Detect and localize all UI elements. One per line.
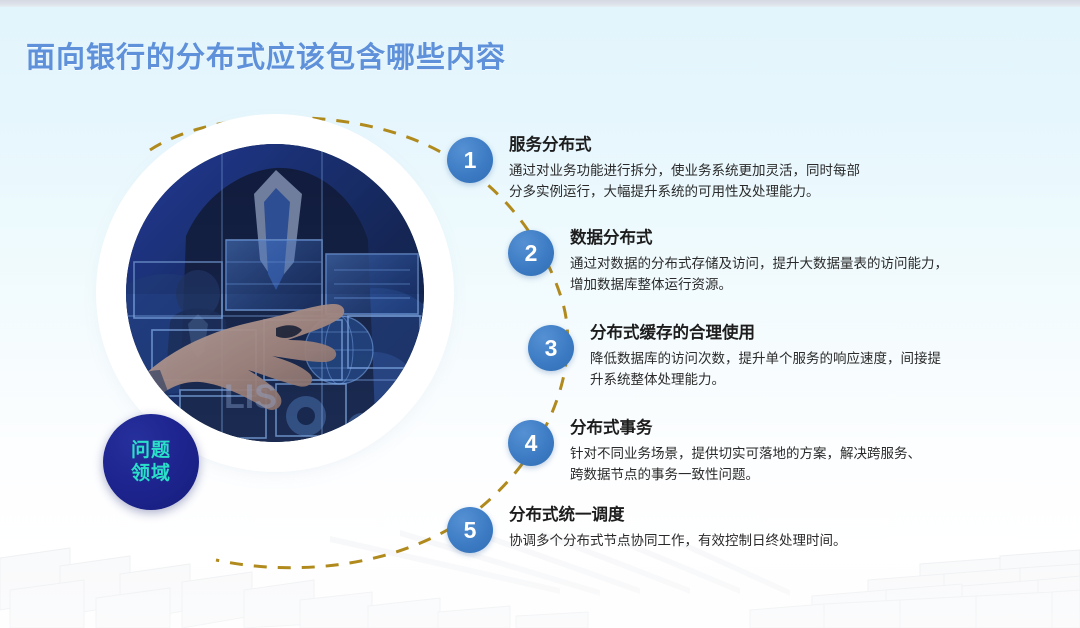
step-number-badge-2: 2 — [508, 230, 554, 276]
step-title-1: 服务分布式 — [509, 135, 860, 156]
step-desc-5: 协调多个分布式节点协同工作，有效控制日终处理时间。 — [509, 530, 847, 551]
top-border-strip — [0, 0, 1080, 7]
step-number-badge-5: 5 — [447, 507, 493, 553]
step-text-3: 分布式缓存的合理使用 降低数据库的访问次数，提升单个服务的响应速度，间接提 升系… — [590, 323, 941, 390]
problem-domain-badge: 问题 领域 — [103, 414, 199, 510]
step-title-4: 分布式事务 — [570, 418, 921, 439]
step-number-badge-3: 3 — [528, 325, 574, 371]
step-number-badge-4: 4 — [508, 420, 554, 466]
photo-circle-frame: LIS — [110, 128, 440, 458]
step-desc-3: 降低数据库的访问次数，提升单个服务的响应速度，间接提 升系统整体处理能力。 — [590, 348, 941, 390]
step-desc-1: 通过对业务功能进行拆分，使业务系统更加灵活，同时每部 分多实例运行，大幅提升系统… — [509, 160, 860, 202]
step-desc-2: 通过对数据的分布式存储及访问，提升大数据量表的访问能力， 增加数据库整体运行资源… — [570, 253, 948, 295]
hero-photo: LIS — [126, 144, 424, 442]
problem-domain-line2: 领域 — [131, 462, 171, 485]
step-desc-4: 针对不同业务场景，提供切实可落地的方案，解决跨服务、 跨数据节点的事务一致性问题… — [570, 443, 921, 485]
step-item-3[interactable]: 3 分布式缓存的合理使用 降低数据库的访问次数，提升单个服务的响应速度，间接提 … — [528, 323, 941, 390]
step-text-4: 分布式事务 针对不同业务场景，提供切实可落地的方案，解决跨服务、 跨数据节点的事… — [570, 418, 921, 485]
step-item-2[interactable]: 2 数据分布式 通过对数据的分布式存储及访问，提升大数据量表的访问能力， 增加数… — [508, 228, 948, 295]
step-item-5[interactable]: 5 分布式统一调度 协调多个分布式节点协同工作，有效控制日终处理时间。 — [447, 505, 847, 551]
step-text-1: 服务分布式 通过对业务功能进行拆分，使业务系统更加灵活，同时每部 分多实例运行，… — [509, 135, 860, 202]
step-number-badge-1: 1 — [447, 137, 493, 183]
step-title-3: 分布式缓存的合理使用 — [590, 323, 941, 344]
step-title-5: 分布式统一调度 — [509, 505, 847, 526]
problem-domain-line1: 问题 — [131, 439, 171, 462]
slide-canvas: 面向银行的分布式应该包含哪些内容 — [0, 0, 1080, 628]
page-title: 面向银行的分布式应该包含哪些内容 — [26, 34, 506, 76]
step-text-5: 分布式统一调度 协调多个分布式节点协同工作，有效控制日终处理时间。 — [509, 505, 847, 551]
step-item-1[interactable]: 1 服务分布式 通过对业务功能进行拆分，使业务系统更加灵活，同时每部 分多实例运… — [447, 135, 860, 202]
step-text-2: 数据分布式 通过对数据的分布式存储及访问，提升大数据量表的访问能力， 增加数据库… — [570, 228, 948, 295]
step-title-2: 数据分布式 — [570, 228, 948, 249]
step-item-4[interactable]: 4 分布式事务 针对不同业务场景，提供切实可落地的方案，解决跨服务、 跨数据节点… — [508, 418, 921, 485]
